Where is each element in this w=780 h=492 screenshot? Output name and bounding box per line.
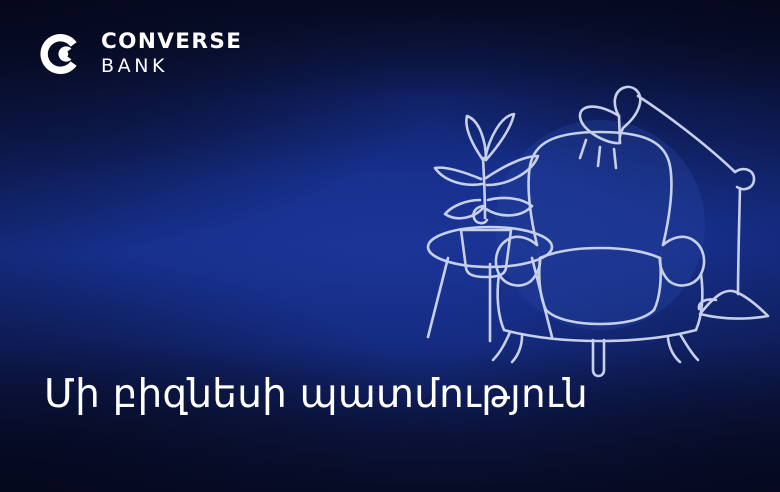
logo-wordmark: CONVERSE BANK: [101, 30, 242, 77]
logo-primary-text: CONVERSE: [101, 31, 242, 54]
logo-secondary-text: BANK: [101, 56, 242, 78]
page-title: Մի բիզնեսի պատմություն: [44, 372, 588, 418]
living-room-illustration: [404, 48, 780, 358]
converse-bank-banner: CONVERSE BANK Մի բիզնեսի պատմություն: [0, 0, 780, 492]
converse-bank-logo[interactable]: CONVERSE BANK: [40, 30, 242, 78]
converse-circle-c-icon: [40, 30, 88, 78]
